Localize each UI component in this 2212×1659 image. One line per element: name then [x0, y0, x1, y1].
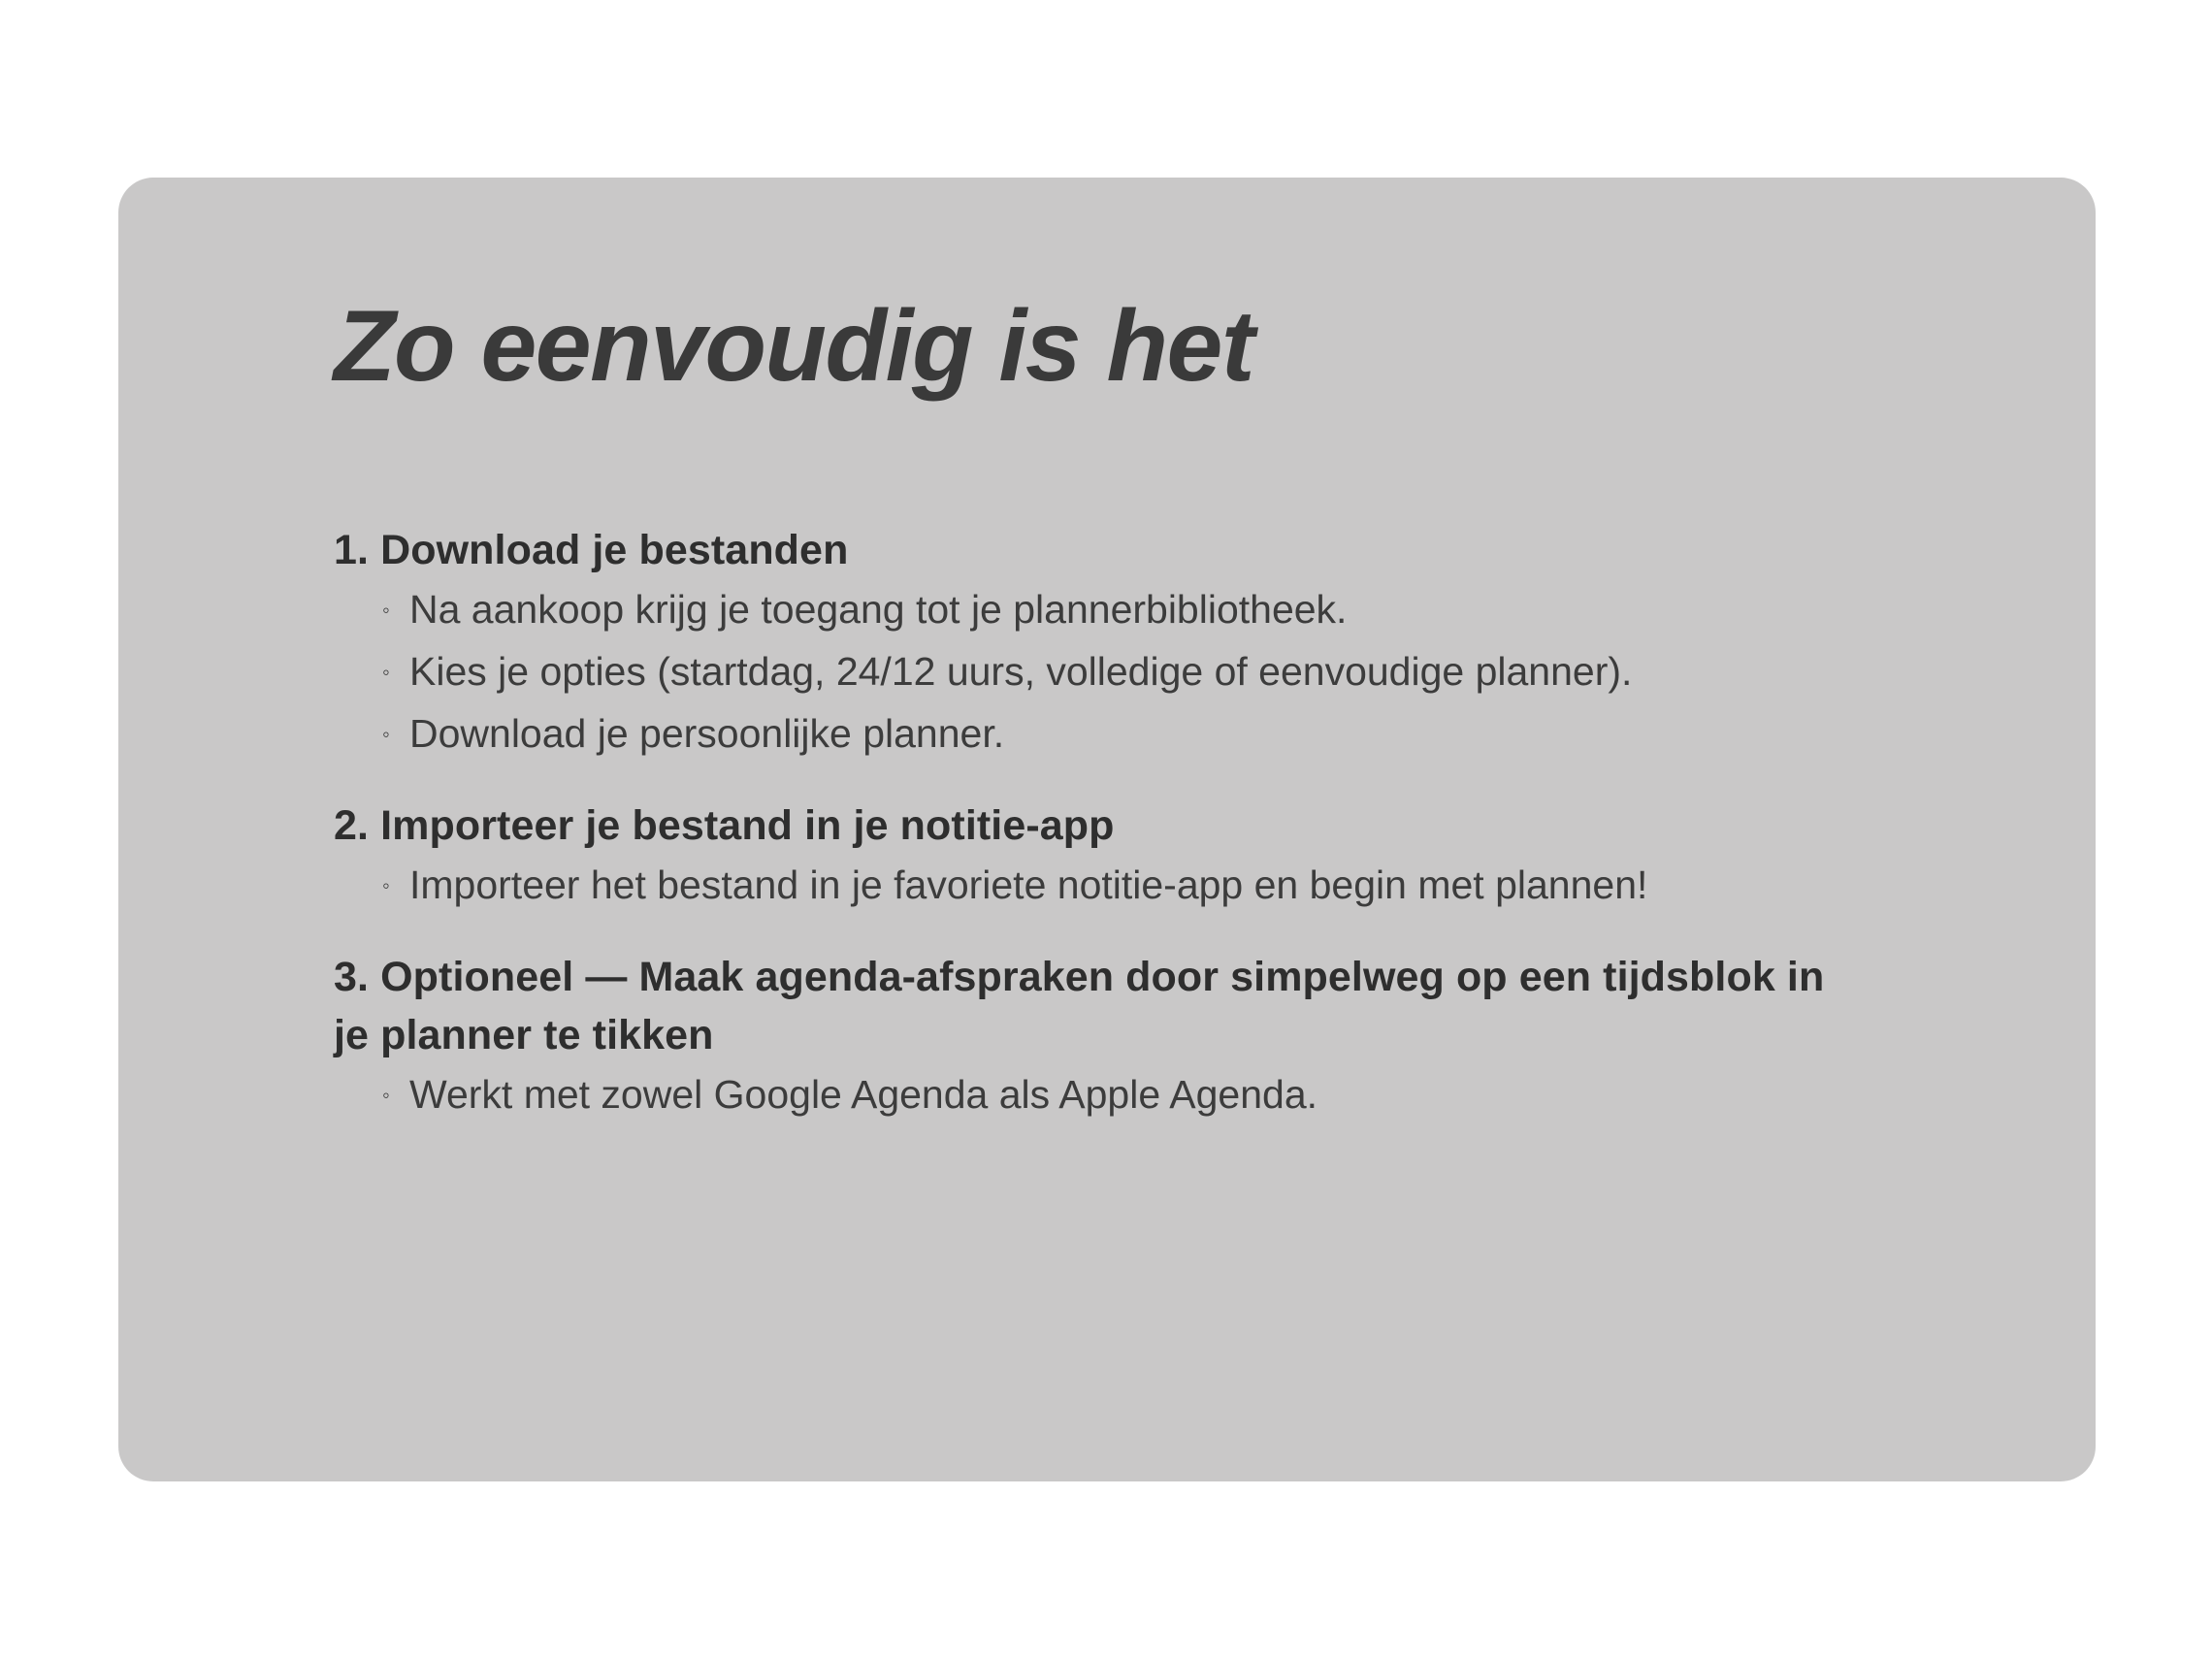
list-item-label: Werkt met zowel Google Agenda als Apple …: [409, 1072, 1317, 1117]
step-item: 2. Importeer je bestand in je notitie-ap…: [334, 797, 2041, 912]
step-heading: 1. Download je bestanden: [334, 522, 1867, 579]
page-title: Zo eenvoudig is het: [334, 294, 1253, 400]
step-bullets: ◦ Na aankoop krijg je toegang tot je pla…: [334, 583, 2041, 761]
step-bullets: ◦ Werkt met zowel Google Agenda als Appl…: [334, 1068, 2041, 1122]
circle-bullet-icon: ◦: [382, 859, 390, 912]
step-heading: 3. Optioneel — Maak agenda-afspraken doo…: [334, 949, 1867, 1064]
list-item: ◦ Werkt met zowel Google Agenda als Appl…: [382, 1068, 2041, 1122]
list-item-label: Importeer het bestand in je favoriete no…: [409, 862, 1647, 907]
page-root: Zo eenvoudig is het 1. Download je besta…: [0, 0, 2212, 1659]
step-item: 3. Optioneel — Maak agenda-afspraken doo…: [334, 949, 2041, 1122]
list-item-label: Na aankoop krijg je toegang tot je plann…: [409, 587, 1347, 632]
list-item-label: Kies je opties (startdag, 24/12 uurs, vo…: [409, 649, 1632, 694]
circle-bullet-icon: ◦: [382, 1068, 390, 1122]
list-item: ◦ Na aankoop krijg je toegang tot je pla…: [382, 583, 2041, 636]
list-item: ◦ Kies je opties (startdag, 24/12 uurs, …: [382, 645, 2041, 699]
list-item: ◦ Importeer het bestand in je favoriete …: [382, 859, 2041, 912]
step-bullets: ◦ Importeer het bestand in je favoriete …: [334, 859, 2041, 912]
list-item: ◦ Download je persoonlijke planner.: [382, 707, 2041, 761]
circle-bullet-icon: ◦: [382, 583, 390, 636]
instructions-card: Zo eenvoudig is het 1. Download je besta…: [118, 178, 2096, 1481]
steps-list: 1. Download je bestanden ◦ Na aankoop kr…: [334, 522, 2041, 1122]
list-item-label: Download je persoonlijke planner.: [409, 711, 1004, 756]
circle-bullet-icon: ◦: [382, 645, 390, 699]
step-item: 1. Download je bestanden ◦ Na aankoop kr…: [334, 522, 2041, 761]
circle-bullet-icon: ◦: [382, 707, 390, 761]
step-heading: 2. Importeer je bestand in je notitie-ap…: [334, 797, 1867, 855]
